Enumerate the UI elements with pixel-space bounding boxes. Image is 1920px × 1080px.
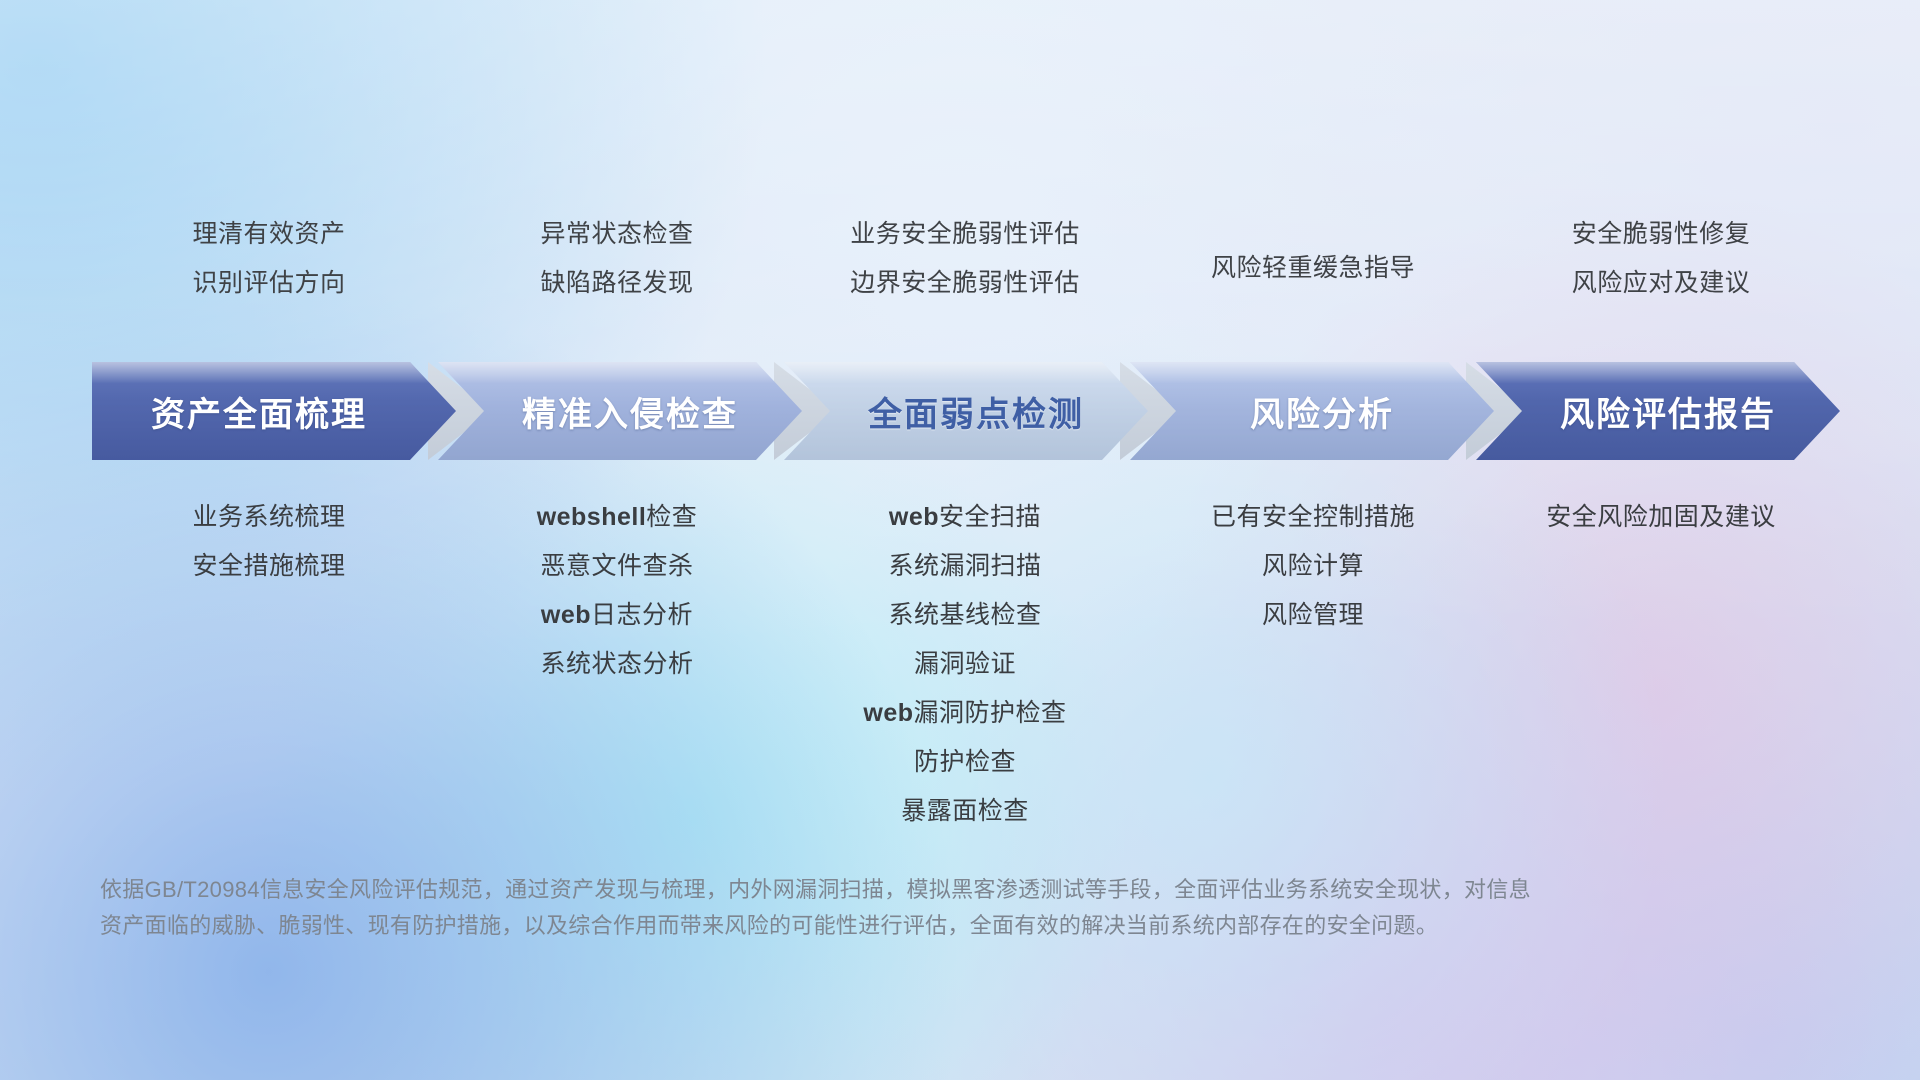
top-note: 缺陷路径发现 bbox=[540, 271, 693, 296]
stage-item: 系统状态分析 bbox=[540, 652, 693, 677]
top-notes-column-risk-analysis: 风险轻重缓急指导 bbox=[1139, 222, 1487, 320]
bottom-items-column-risk-analysis: 已有安全控制措施风险计算风险管理 bbox=[1139, 505, 1487, 848]
bottom-items-row: 业务系统梳理安全措施梳理webshell检查恶意文件查杀web日志分析系统状态分… bbox=[95, 505, 1835, 848]
process-chevron-banner: 资产全面梳理精准入侵检查全面弱点检测风险分析风险评估报告 bbox=[92, 362, 1840, 460]
top-notes-column-intrusion-check: 异常状态检查缺陷路径发现 bbox=[443, 222, 791, 320]
stage-item: 系统漏洞扫描 bbox=[888, 554, 1041, 579]
top-note: 风险应对及建议 bbox=[1572, 271, 1751, 296]
stage-item: 安全措施梳理 bbox=[192, 554, 345, 579]
footer-line-1: 依据GB/T20984信息安全风险评估规范，通过资产发现与梳理，内外网漏洞扫描，… bbox=[100, 872, 1660, 908]
stage-item: web漏洞防护检查 bbox=[863, 701, 1066, 726]
stage-item: 业务系统梳理 bbox=[192, 505, 345, 530]
stage-item: webshell检查 bbox=[537, 505, 698, 530]
stage-item: web安全扫描 bbox=[889, 505, 1041, 530]
stage-title: 风险评估报告 bbox=[1476, 387, 1840, 436]
top-notes-column-weakness-detection: 业务安全脆弱性评估边界安全脆弱性评估 bbox=[791, 222, 1139, 320]
stage-item: 已有安全控制措施 bbox=[1211, 505, 1415, 530]
top-notes-row: 理清有效资产识别评估方向异常状态检查缺陷路径发现业务安全脆弱性评估边界安全脆弱性… bbox=[95, 222, 1835, 320]
stage-item: 防护检查 bbox=[914, 750, 1016, 775]
stage-title: 精准入侵检查 bbox=[438, 387, 802, 436]
stage-title: 资产全面梳理 bbox=[92, 387, 456, 436]
bottom-items-column-risk-report: 安全风险加固及建议 bbox=[1487, 505, 1835, 848]
bottom-items-column-intrusion-check: webshell检查恶意文件查杀web日志分析系统状态分析 bbox=[443, 505, 791, 848]
stage-title: 风险分析 bbox=[1130, 387, 1494, 436]
process-stage-weakness-detection[interactable]: 全面弱点检测 bbox=[784, 362, 1148, 460]
top-note: 安全脆弱性修复 bbox=[1572, 222, 1751, 247]
stage-item: 安全风险加固及建议 bbox=[1546, 505, 1776, 530]
process-diagram-page: 理清有效资产识别评估方向异常状态检查缺陷路径发现业务安全脆弱性评估边界安全脆弱性… bbox=[0, 0, 1920, 1080]
process-stage-asset-inventory[interactable]: 资产全面梳理 bbox=[92, 362, 456, 460]
top-note: 理清有效资产 bbox=[192, 222, 345, 247]
stage-item: 暴露面检查 bbox=[901, 799, 1029, 824]
top-note: 风险轻重缓急指导 bbox=[1211, 256, 1415, 281]
stage-item: 恶意文件查杀 bbox=[540, 554, 693, 579]
bottom-items-column-asset-inventory: 业务系统梳理安全措施梳理 bbox=[95, 505, 443, 848]
top-notes-column-asset-inventory: 理清有效资产识别评估方向 bbox=[95, 222, 443, 320]
stage-item: 系统基线检查 bbox=[888, 603, 1041, 628]
process-stage-risk-report[interactable]: 风险评估报告 bbox=[1476, 362, 1840, 460]
stage-item: 风险计算 bbox=[1262, 554, 1364, 579]
top-note: 异常状态检查 bbox=[540, 222, 693, 247]
top-note: 业务安全脆弱性评估 bbox=[850, 222, 1080, 247]
process-stage-risk-analysis[interactable]: 风险分析 bbox=[1130, 362, 1494, 460]
top-note: 识别评估方向 bbox=[192, 271, 345, 296]
stage-item: 风险管理 bbox=[1262, 603, 1364, 628]
footer-line-2: 资产面临的威胁、脆弱性、现有防护措施，以及综合作用而带来风险的可能性进行评估，全… bbox=[100, 908, 1660, 944]
process-stage-intrusion-check[interactable]: 精准入侵检查 bbox=[438, 362, 802, 460]
stage-item: 漏洞验证 bbox=[914, 652, 1016, 677]
top-note: 边界安全脆弱性评估 bbox=[850, 271, 1080, 296]
stage-title: 全面弱点检测 bbox=[784, 387, 1148, 436]
bottom-items-column-weakness-detection: web安全扫描系统漏洞扫描系统基线检查漏洞验证web漏洞防护检查防护检查暴露面检… bbox=[791, 505, 1139, 848]
stage-item: web日志分析 bbox=[541, 603, 693, 628]
top-notes-column-risk-report: 安全脆弱性修复风险应对及建议 bbox=[1487, 222, 1835, 320]
footer-description: 依据GB/T20984信息安全风险评估规范，通过资产发现与梳理，内外网漏洞扫描，… bbox=[100, 872, 1660, 945]
